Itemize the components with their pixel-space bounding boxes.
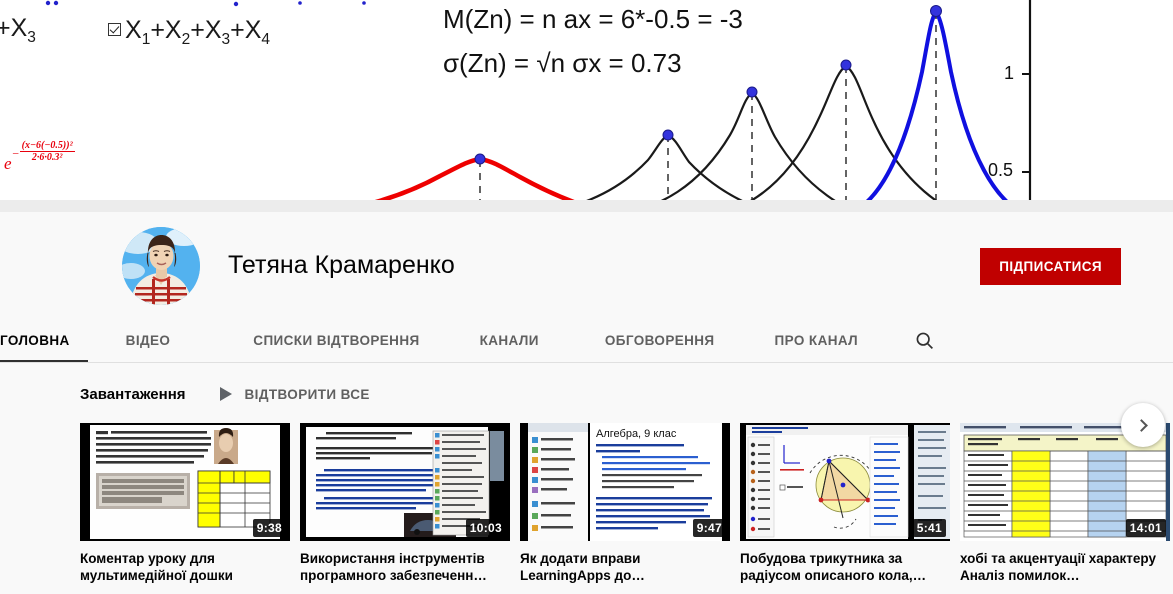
video-grid: 9:38 Коментар уроку для мультимедійної д… bbox=[0, 423, 1173, 585]
video-thumbnail[interactable]: 5:41 bbox=[740, 423, 950, 541]
video-duration: 10:03 bbox=[466, 519, 506, 537]
banner-formula-red: e− (x−6(−0.5))² 2·6·0.3² bbox=[4, 140, 75, 174]
avatar-image bbox=[122, 227, 200, 305]
tab-discussion-label: ОБГОВОРЕННЯ bbox=[605, 333, 715, 348]
channel-banner: 1 0.5 +X3 X1+X2+X3+X4 M(Zn) = n ax = 6*-… bbox=[0, 0, 1173, 200]
tab-playlists[interactable]: СПИСКИ ВІДТВОРЕННЯ bbox=[235, 319, 437, 362]
video-title[interactable]: Коментар уроку для мультимедійної дошки bbox=[80, 550, 290, 585]
banner-term-x3: +X3 bbox=[0, 14, 36, 47]
avatar[interactable] bbox=[122, 227, 200, 305]
video-duration: 9:38 bbox=[253, 519, 286, 537]
video-thumbnail[interactable]: Алгебра, 9 клас bbox=[520, 423, 730, 541]
formula-numerator: (x−6(−0.5))² bbox=[20, 140, 75, 152]
tab-videos-label: ВІДЕО bbox=[126, 333, 171, 348]
shelf-header: Завантаження ВІДТВОРИТИ ВСЕ bbox=[0, 379, 1173, 409]
video-thumbnail[interactable]: 10:03 bbox=[300, 423, 510, 541]
video-title[interactable]: Як додати вправи LearningApps до… bbox=[520, 550, 730, 585]
channel-tabs: ГОЛОВНА ВІДЕО СПИСКИ ВІДТВОРЕННЯ КАНАЛИ … bbox=[0, 319, 1173, 363]
tab-channels-label: КАНАЛИ bbox=[480, 333, 539, 348]
video-duration: 14:01 bbox=[1126, 519, 1166, 537]
svg-text:Алгебра, 9 клас: Алгебра, 9 клас bbox=[596, 428, 677, 440]
banner-checkbox-icon bbox=[108, 23, 121, 36]
video-title[interactable]: хобі та акцентуації характеру Аналіз пом… bbox=[960, 550, 1170, 585]
formula-minus: − bbox=[12, 147, 20, 161]
banner-equation-mean: M(Zn) = n ax = 6*-0.5 = -3 bbox=[443, 4, 743, 35]
channel-title: Тетяна Крамаренко bbox=[228, 251, 455, 280]
play-icon bbox=[220, 387, 232, 401]
tab-about[interactable]: ПРО КАНАЛ bbox=[757, 319, 877, 362]
carousel-next-button[interactable] bbox=[1121, 403, 1165, 447]
video-duration: 5:41 bbox=[913, 519, 946, 537]
tab-videos[interactable]: ВІДЕО bbox=[108, 319, 189, 362]
play-all-button[interactable]: ВІДТВОРИТИ ВСЕ bbox=[220, 387, 370, 402]
video-card[interactable]: 5:41 Побудова трикутника за радіусом опи… bbox=[740, 423, 950, 585]
tab-discussion[interactable]: ОБГОВОРЕННЯ bbox=[587, 319, 733, 362]
video-card[interactable]: 14:01 хобі та акцентуації характеру Анал… bbox=[960, 423, 1170, 585]
channel-header: Тетяна Крамаренко ПІДПИСАТИСЯ bbox=[0, 212, 1173, 319]
banner-axis-tick-05: 0.5 bbox=[988, 160, 1013, 181]
banner-equation-sigma: σ(Zn) = √n σx = 0.73 bbox=[443, 48, 682, 79]
video-thumbnail[interactable]: 9:38 bbox=[80, 423, 290, 541]
video-duration: 9:47 bbox=[693, 519, 726, 537]
video-card[interactable]: Алгебра, 9 клас bbox=[520, 423, 730, 585]
video-card[interactable]: 9:38 Коментар уроку для мультимедійної д… bbox=[80, 423, 290, 585]
banner-divider bbox=[0, 200, 1173, 212]
video-title[interactable]: Побудова трикутника за радіусом описаног… bbox=[740, 550, 950, 585]
banner-checkbox-sum: X1+X2+X3+X4 bbox=[108, 16, 270, 49]
uploads-shelf: Завантаження ВІДТВОРИТИ ВСЕ bbox=[0, 363, 1173, 585]
play-all-label: ВІДТВОРИТИ ВСЕ bbox=[245, 387, 370, 402]
tab-channels[interactable]: КАНАЛИ bbox=[462, 319, 557, 362]
formula-denominator: 2·6·0.3² bbox=[20, 152, 75, 163]
formula-e: e bbox=[4, 154, 12, 173]
subscribe-button[interactable]: ПІДПИСАТИСЯ bbox=[980, 248, 1121, 285]
video-card[interactable]: 10:03 Використання інструментів програмн… bbox=[300, 423, 510, 585]
tab-playlists-label: СПИСКИ ВІДТВОРЕННЯ bbox=[253, 333, 419, 348]
search-icon bbox=[914, 330, 935, 351]
chevron-right-icon bbox=[1135, 419, 1148, 432]
shelf-title: Завантаження bbox=[80, 386, 186, 403]
tab-home-label: ГОЛОВНА bbox=[0, 333, 70, 348]
tab-home[interactable]: ГОЛОВНА bbox=[0, 319, 88, 362]
tab-about-label: ПРО КАНАЛ bbox=[775, 333, 859, 348]
banner-axis-tick-1: 1 bbox=[1004, 63, 1014, 84]
channel-search-button[interactable] bbox=[896, 319, 953, 362]
video-title[interactable]: Використання інструментів програмного за… bbox=[300, 550, 510, 585]
